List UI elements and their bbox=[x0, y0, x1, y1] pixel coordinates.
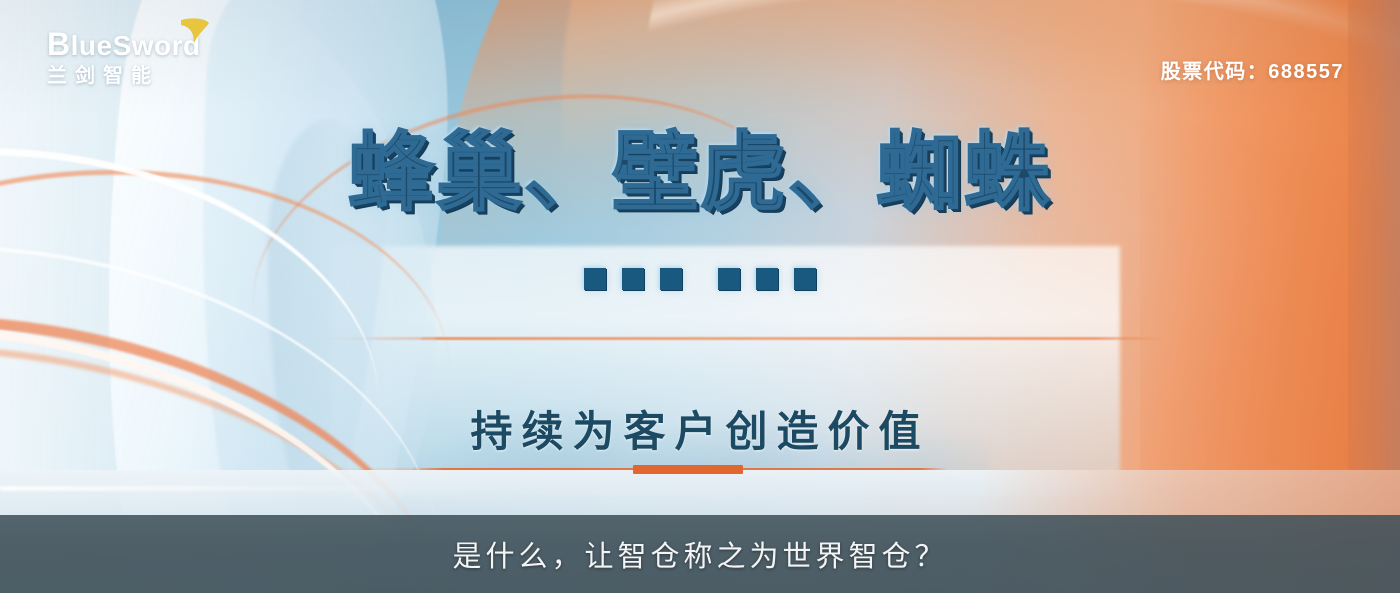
hero-subtitle-text: 持续为客户创造价值 bbox=[470, 398, 929, 459]
hero-divider bbox=[417, 465, 947, 474]
logo-chinese-name: 兰剑智能 bbox=[47, 66, 247, 86]
hero-headline: 蜂巢、壁虎、蜘蛛 bbox=[0, 128, 1400, 218]
subtitle-caption-bar: 是什么，让智仓称之为世界智仓？ bbox=[0, 515, 1400, 593]
hero-ellipsis bbox=[0, 268, 1400, 290]
ellipsis-square bbox=[622, 268, 644, 290]
logo-wordmark-cap: B bbox=[47, 26, 71, 62]
divider-accent-segment bbox=[633, 465, 743, 474]
ellipsis-square bbox=[756, 268, 778, 290]
video-frame: BlueSword 兰剑智能 股票代码：688557 蜂巢、壁虎、蜘蛛 持续为客… bbox=[0, 0, 1400, 593]
ellipsis-square bbox=[660, 268, 682, 290]
swoosh-icon bbox=[178, 16, 212, 46]
ellipsis-group-left bbox=[584, 268, 682, 290]
logo-wordmark: BlueSword bbox=[47, 28, 247, 60]
brand-logo: BlueSword 兰剑智能 bbox=[47, 28, 247, 92]
ellipsis-square bbox=[718, 268, 740, 290]
stock-code-label: 股票代码：688557 bbox=[1161, 55, 1344, 84]
hero-subtitle: 持续为客户创造价值 bbox=[0, 398, 1400, 459]
hero-title-text: 蜂巢、壁虎、蜘蛛 bbox=[348, 128, 1052, 218]
ellipsis-square bbox=[794, 268, 816, 290]
ellipsis-group-right bbox=[718, 268, 816, 290]
ellipsis-square bbox=[584, 268, 606, 290]
background-floor-light-streak bbox=[0, 486, 420, 491]
caption-text: 是什么，让智仓称之为世界智仓？ bbox=[452, 533, 947, 575]
